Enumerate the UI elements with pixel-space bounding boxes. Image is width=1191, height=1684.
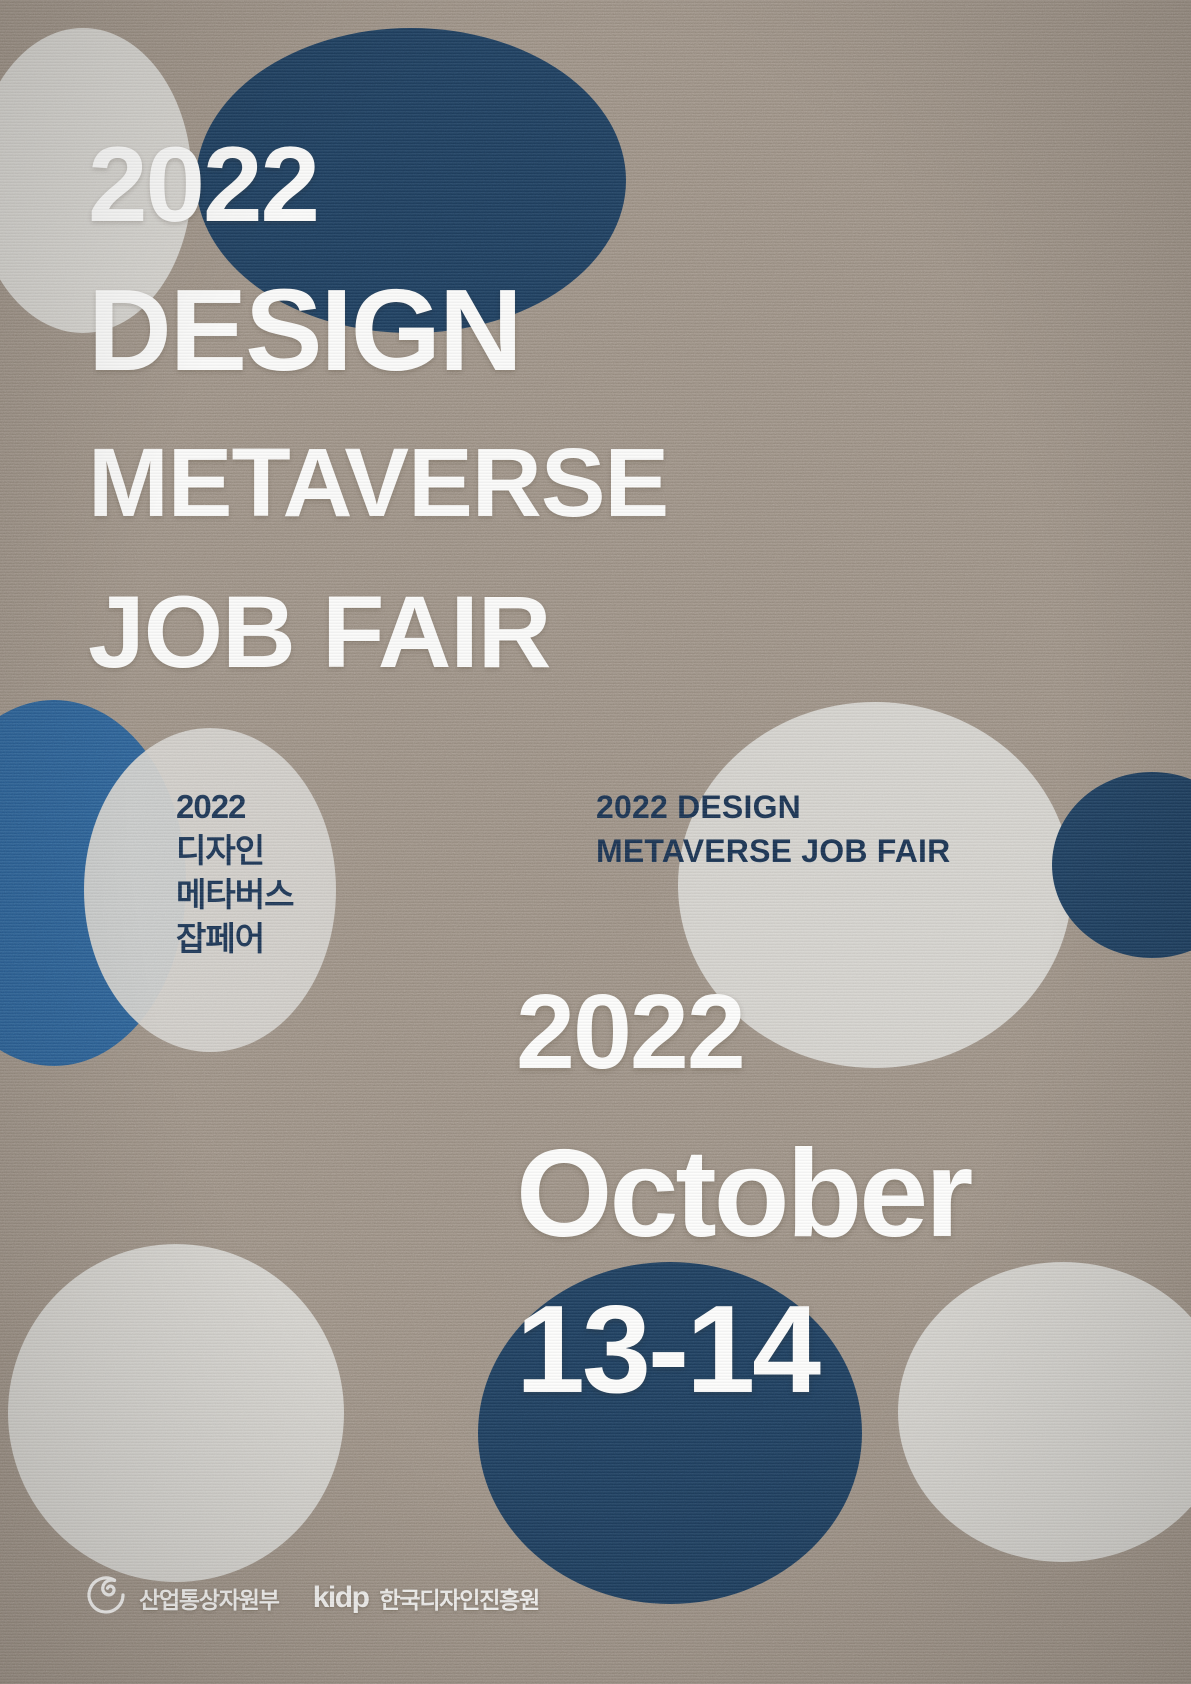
korean-title-line-3: 메타버스 <box>176 873 293 917</box>
english-title-line-1: 2022 DESIGN <box>596 785 950 829</box>
ministry-label: 산업통상자원부 <box>139 1581 279 1615</box>
headline-metaverse: METAVERSE <box>88 434 668 531</box>
poster-canvas: 2022 DESIGN METAVERSE JOB FAIR 2022 디자인 … <box>0 0 1191 1684</box>
footer-logo-bar: 산업통상자원부 kidp 한국디자인진흥원 <box>84 1573 539 1622</box>
korean-title-line-4: 잡페어 <box>176 917 293 961</box>
kidp-wordmark: kidp <box>313 1581 369 1615</box>
kidp-logo: kidp 한국디자인진흥원 <box>313 1581 539 1615</box>
ministry-logo: 산업통상자원부 <box>84 1573 279 1622</box>
date-month: October <box>516 1132 970 1256</box>
korean-title-line-2: 디자인 <box>176 829 293 873</box>
date-year: 2022 <box>516 979 744 1085</box>
headline-year: 2022 <box>88 131 318 238</box>
korean-title-line-1: 2022 <box>176 785 293 829</box>
english-title-block: 2022 DESIGN METAVERSE JOB FAIR <box>596 785 950 873</box>
english-title-line-2: METAVERSE JOB FAIR <box>596 829 950 873</box>
korean-title-block: 2022 디자인 메타버스 잡페어 <box>176 785 293 961</box>
korean-government-emblem-icon <box>84 1573 128 1622</box>
kidp-label: 한국디자인진흥원 <box>379 1581 539 1615</box>
headline-job-fair: JOB FAIR <box>88 581 550 683</box>
date-days: 13-14 <box>516 1288 818 1412</box>
headline-design: DESIGN <box>88 272 521 388</box>
poster-text-layer: 2022 DESIGN METAVERSE JOB FAIR 2022 디자인 … <box>0 0 1191 1684</box>
